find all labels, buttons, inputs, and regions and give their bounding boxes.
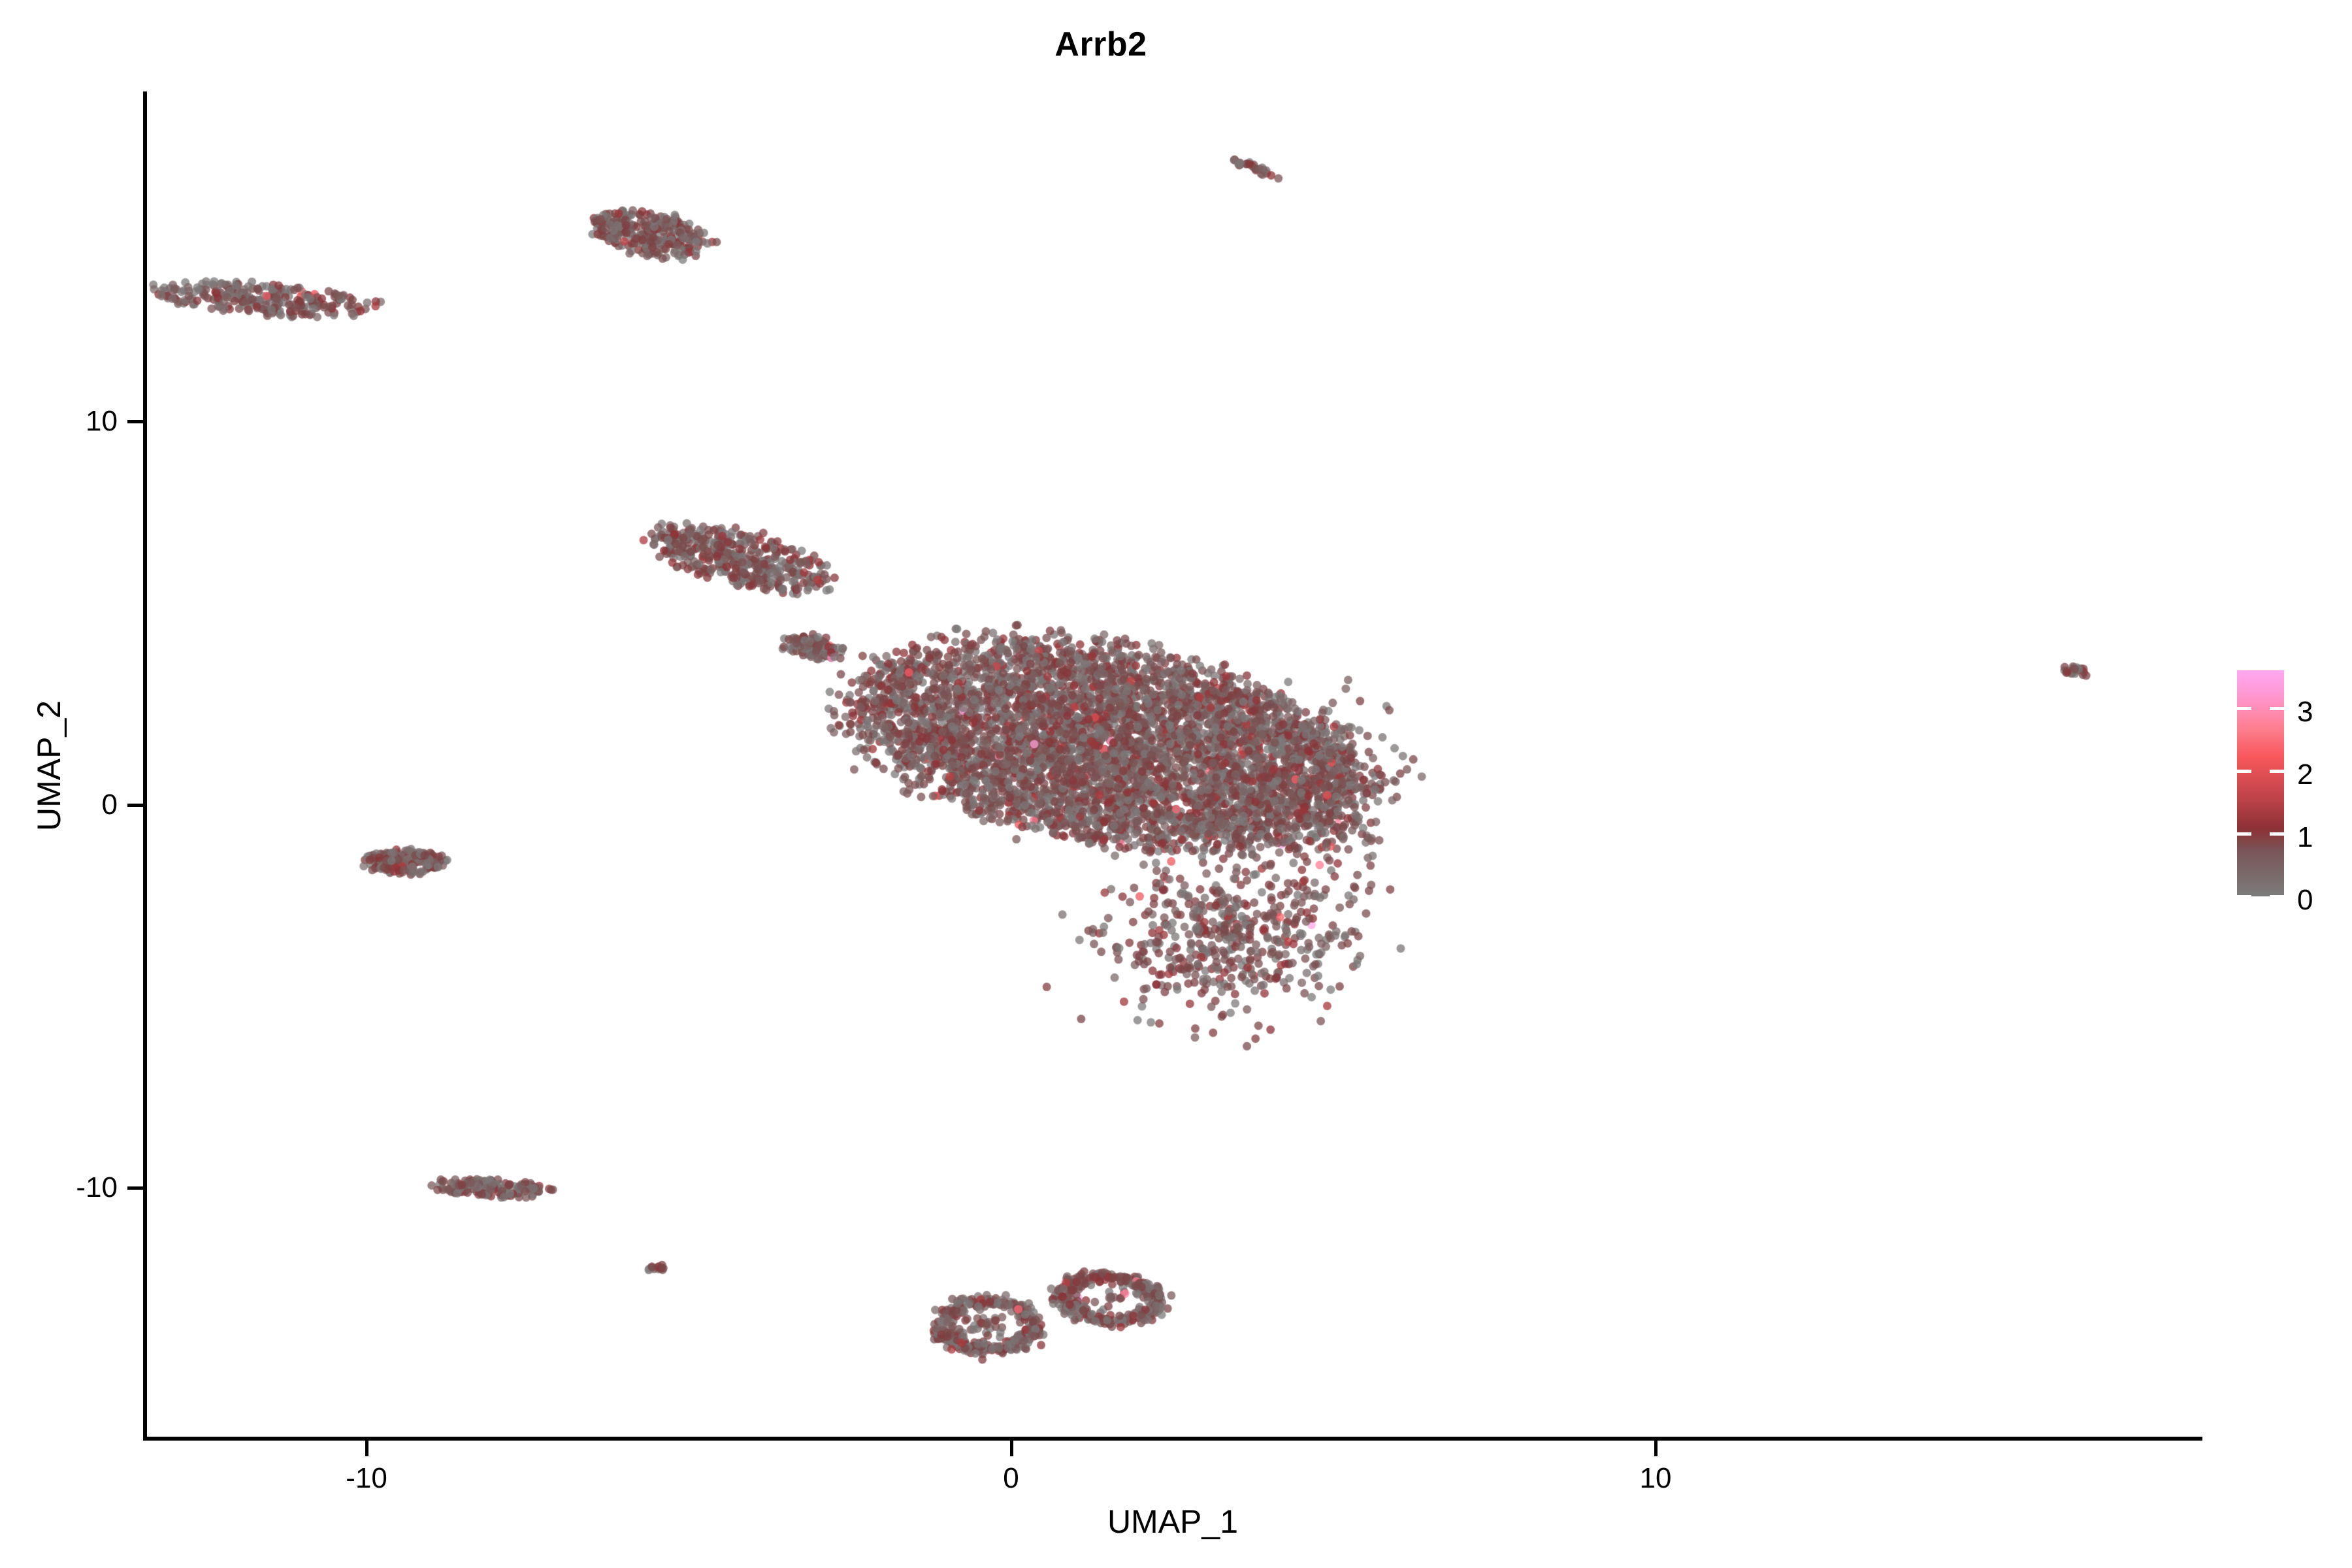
colorbar-label: 0 (2297, 884, 2313, 917)
y-axis-ticklabel: -10 (76, 1171, 118, 1204)
x-axis-line (143, 1437, 2202, 1441)
x-axis-ticklabel: 10 (1640, 1462, 1672, 1495)
colorbar-tick (2237, 832, 2251, 836)
y-axis-tick (127, 420, 143, 423)
colorbar-tick (2237, 770, 2251, 773)
x-axis-title: UMAP_1 (143, 1503, 2202, 1541)
y-axis-ticklabel: 0 (102, 789, 118, 821)
colorbar-tick (2270, 832, 2284, 836)
colorbar-tick (2270, 770, 2284, 773)
umap-feature-plot: Arrb2 -10 0 10 10 0 -10 UMAP_1 UMAP_2 3 … (0, 0, 2352, 1568)
x-axis-tick (1654, 1441, 1658, 1456)
scatter-plot-canvas (0, 0, 2352, 1568)
x-axis-tick (1010, 1441, 1013, 1456)
y-axis-line (143, 91, 147, 1440)
colorbar-label: 1 (2297, 821, 2313, 854)
y-axis-title-text: UMAP_2 (30, 700, 68, 831)
colorbar-tick (2270, 707, 2284, 710)
y-axis-tick (127, 1186, 143, 1190)
colorbar-tick (2237, 895, 2251, 898)
colorbar-tick (2270, 895, 2284, 898)
colorbar-label: 3 (2297, 696, 2313, 728)
x-axis-tick (365, 1441, 368, 1456)
colorbar-tick (2237, 707, 2251, 710)
y-axis-tick (127, 804, 143, 807)
x-axis-ticklabel: 0 (1003, 1462, 1019, 1495)
x-axis-ticklabel: -10 (346, 1462, 387, 1495)
colorbar-label: 2 (2297, 759, 2313, 791)
colorbar-gradient (2237, 670, 2284, 896)
y-axis-ticklabel: 10 (86, 405, 118, 438)
